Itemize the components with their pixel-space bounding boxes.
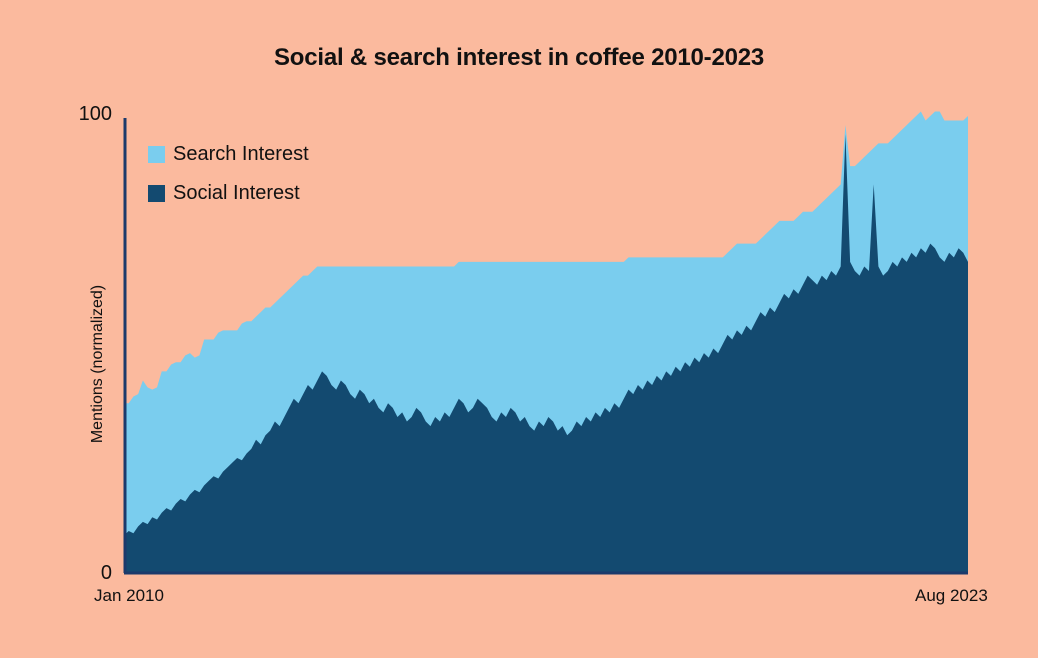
chart-legend: Search Interest Social Interest bbox=[148, 144, 309, 203]
stacked-area-plot bbox=[0, 0, 1038, 658]
legend-swatch-social-interest bbox=[148, 185, 165, 202]
legend-item-search-interest: Search Interest bbox=[148, 144, 309, 164]
chart-page: Social & search interest in coffee 2010-… bbox=[0, 0, 1038, 658]
legend-label-social-interest: Social Interest bbox=[173, 183, 300, 203]
legend-item-social-interest: Social Interest bbox=[148, 183, 309, 203]
legend-swatch-search-interest bbox=[148, 146, 165, 163]
legend-label-search-interest: Search Interest bbox=[173, 144, 309, 164]
